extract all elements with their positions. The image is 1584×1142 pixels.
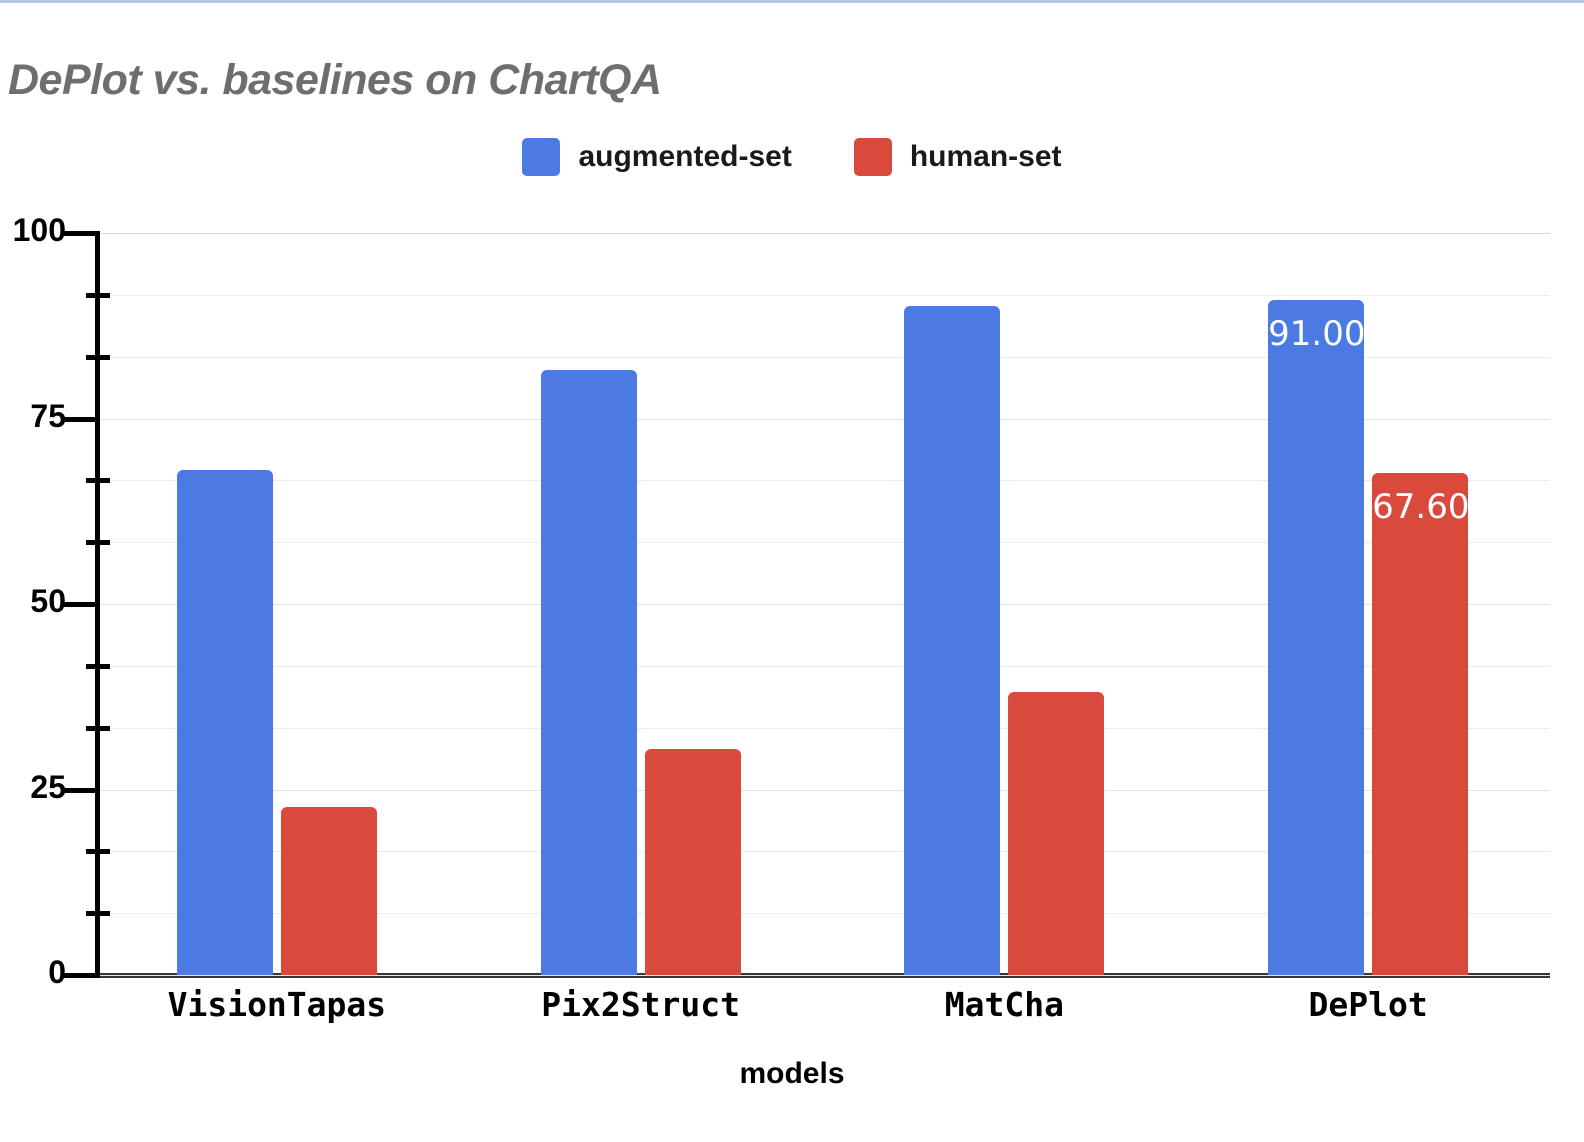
y-axis-tick xyxy=(64,973,100,978)
y-axis-tick-label: 25 xyxy=(30,769,66,806)
bar-value-label: 67.60 xyxy=(1372,487,1468,527)
bar-human-set-MatCha[interactable] xyxy=(1008,692,1104,975)
x-axis-category-label: DePlot xyxy=(1168,985,1568,1024)
bar-chart: DePlot vs. baselines on ChartQA augmente… xyxy=(0,0,1584,1142)
y-axis-minor-tick xyxy=(86,726,110,731)
y-axis-minor-tick xyxy=(86,540,110,545)
bar-human-set-VisionTapas[interactable] xyxy=(281,807,377,975)
y-axis-tick-label: 0 xyxy=(48,954,66,991)
x-axis-category-label: Pix2Struct xyxy=(441,985,841,1024)
y-axis-minor-tick xyxy=(86,478,110,483)
x-axis-title: models xyxy=(0,1057,1584,1091)
chart-title: DePlot vs. baselines on ChartQA xyxy=(8,56,662,105)
y-axis-minor-tick xyxy=(86,355,110,360)
y-axis-tick-label: 100 xyxy=(13,212,66,249)
gridline xyxy=(95,233,1550,234)
bar-human-set-DePlot[interactable]: 67.60 xyxy=(1372,473,1468,975)
y-axis-tick-label: 75 xyxy=(30,398,66,435)
chart-legend: augmented-set human-set xyxy=(0,138,1584,176)
legend-label: augmented-set xyxy=(578,140,791,174)
bar-human-set-Pix2Struct[interactable] xyxy=(645,749,741,975)
y-axis-tick xyxy=(64,788,100,793)
legend-item-human-set[interactable]: human-set xyxy=(854,138,1062,176)
y-axis-tick xyxy=(64,231,100,236)
bar-augmented-set-Pix2Struct[interactable] xyxy=(541,370,637,975)
bar-augmented-set-MatCha[interactable] xyxy=(904,306,1000,975)
bar-augmented-set-DePlot[interactable]: 91.00 xyxy=(1268,300,1364,975)
square-swatch-icon xyxy=(854,138,892,176)
legend-item-augmented-set[interactable]: augmented-set xyxy=(522,138,791,176)
y-axis-minor-tick xyxy=(86,911,110,916)
plot-area: 91.0067.60 xyxy=(95,233,1550,975)
legend-label: human-set xyxy=(910,140,1062,174)
x-axis-category-label: VisionTapas xyxy=(77,985,477,1024)
y-axis-tick xyxy=(64,417,100,422)
y-axis-minor-tick xyxy=(86,293,110,298)
y-axis-minor-tick xyxy=(86,849,110,854)
y-axis-tick xyxy=(64,602,100,607)
y-axis-minor-tick xyxy=(86,664,110,669)
gridline xyxy=(95,295,1550,296)
bar-value-label: 91.00 xyxy=(1268,314,1364,354)
y-axis-tick-label: 50 xyxy=(30,583,66,620)
x-axis-category-label: MatCha xyxy=(804,985,1204,1024)
square-swatch-icon xyxy=(522,138,560,176)
bar-augmented-set-VisionTapas[interactable] xyxy=(177,470,273,975)
gridline xyxy=(95,975,1550,976)
